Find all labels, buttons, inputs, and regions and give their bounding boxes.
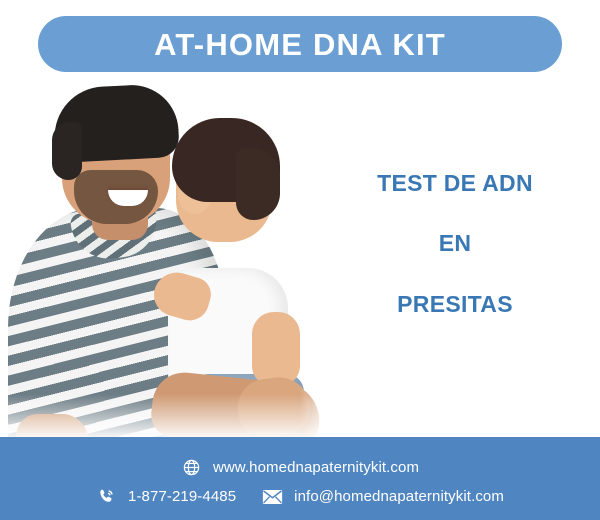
photo-stage <box>0 78 340 448</box>
child-hair-side <box>236 148 280 220</box>
child-right-arm <box>252 312 300 386</box>
globe-icon <box>181 457 202 478</box>
website-label: www.homednapaternitykit.com <box>213 459 419 476</box>
man-sideburn <box>52 122 82 180</box>
headline-line-2: EN <box>330 232 580 255</box>
footer-row-website: www.homednapaternitykit.com <box>0 457 600 478</box>
footer-contact-bar: www.homednapaternitykit.com 1-877-219-44… <box>0 437 600 520</box>
envelope-icon <box>262 486 283 507</box>
phone-item[interactable]: 1-877-219-4485 <box>96 486 236 507</box>
website-item[interactable]: www.homednapaternitykit.com <box>181 457 419 478</box>
phone-icon <box>96 486 117 507</box>
headline-line-1: TEST DE ADN <box>330 172 580 195</box>
headline-line-3: PRESITAS <box>330 293 580 316</box>
email-item[interactable]: info@homednapaternitykit.com <box>262 486 504 507</box>
headline-block: TEST DE ADN EN PRESITAS <box>330 150 580 316</box>
footer-row-phone-email: 1-877-219-4485 info@homednapaternitykit.… <box>0 486 600 507</box>
header-banner: AT-HOME DNA KIT <box>38 16 562 72</box>
poster-canvas: AT-HOME DNA KIT <box>0 0 600 520</box>
page-title: AT-HOME DNA KIT <box>154 29 446 60</box>
hero-photo <box>0 78 340 448</box>
email-label: info@homednapaternitykit.com <box>294 488 504 505</box>
phone-label: 1-877-219-4485 <box>128 488 236 505</box>
